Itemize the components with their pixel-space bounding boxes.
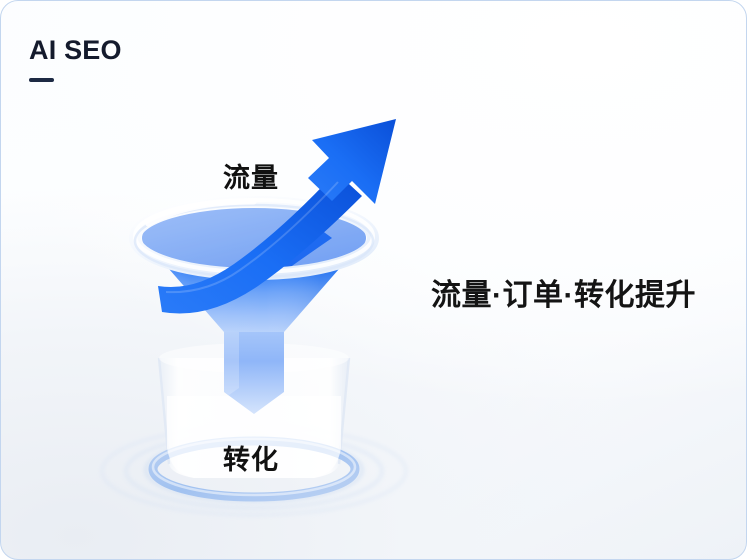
- funnel-bottom-label: 转化: [223, 438, 279, 477]
- headline-text: 流量·订单·转化提升: [431, 278, 696, 314]
- title-underline-rule: [29, 78, 54, 82]
- page-title: AI SEO: [29, 37, 122, 64]
- title-block: AI SEO: [29, 37, 122, 82]
- funnel-top-label: 流量: [223, 156, 279, 195]
- poster-canvas: AI SEO: [0, 0, 747, 560]
